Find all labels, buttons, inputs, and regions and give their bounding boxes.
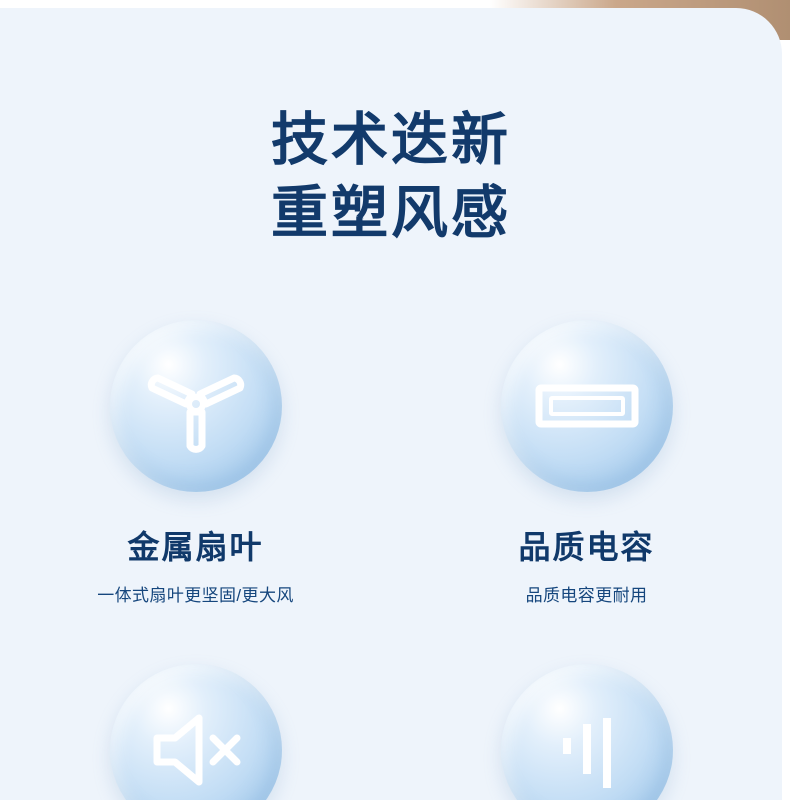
page-title: 技术迭新 重塑风感: [0, 104, 782, 250]
feature-subtitle: 一体式扇叶更坚固/更大风: [97, 581, 294, 606]
feature-item-mute: [0, 664, 391, 800]
fan-blade-icon: [142, 352, 250, 460]
product-feature-page: 技术迭新 重塑风感: [0, 0, 790, 800]
feature-card: 技术迭新 重塑风感: [0, 8, 782, 800]
capacitor-icon: [527, 352, 647, 460]
headline-line-1: 技术迭新: [271, 108, 511, 172]
feature-bubble: [501, 320, 673, 492]
feature-title: 品质电容: [518, 522, 654, 568]
wind-speed-icon: [533, 696, 641, 800]
feature-item-capacitor: 品质电容 品质电容更耐用: [391, 320, 782, 628]
feature-title: 金属扇叶: [127, 522, 263, 568]
mute-speaker-icon: [137, 696, 255, 800]
feature-bubble: [110, 320, 282, 492]
feature-item-fan-blade: 金属扇叶 一体式扇叶更坚固/更大风: [0, 320, 391, 628]
feature-bubble: [110, 664, 282, 800]
feature-item-wind-speed: [391, 664, 782, 800]
feature-subtitle: 品质电容更耐用: [526, 581, 648, 606]
feature-grid: 金属扇叶 一体式扇叶更坚固/更大风 品质电容 品质电容更耐用: [0, 320, 782, 800]
headline-line-2: 重塑风感: [0, 177, 782, 250]
feature-bubble: [501, 664, 673, 800]
